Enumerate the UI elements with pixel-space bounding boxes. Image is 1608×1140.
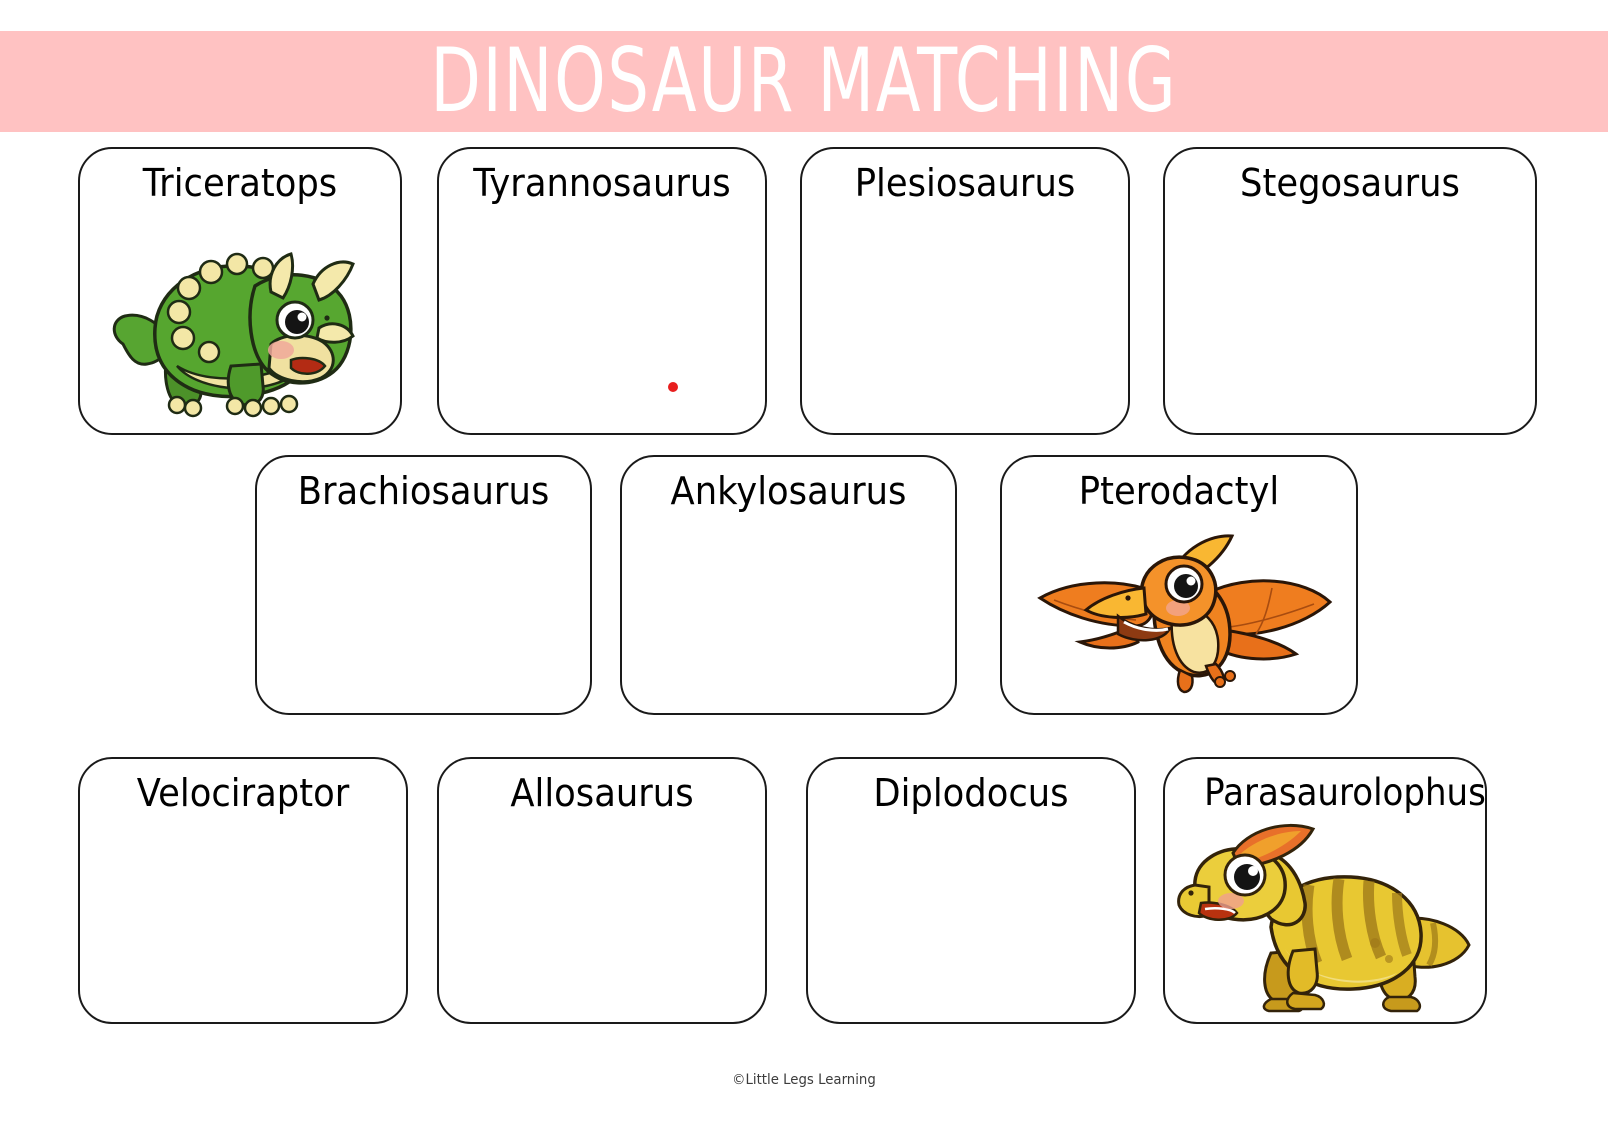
card-label: Stegosaurus <box>1178 157 1522 209</box>
card-brachiosaurus[interactable]: Brachiosaurus <box>255 455 592 715</box>
red-dot-marker <box>668 382 678 392</box>
footer-credit: ©Little Legs Learning <box>40 1072 1568 1088</box>
card-label: Triceratops <box>91 157 389 209</box>
page-title: DINOSAUR MATCHING <box>431 37 1178 126</box>
card-pterodactyl[interactable]: Pterodactyl <box>1000 455 1358 715</box>
header-banner: DINOSAUR MATCHING <box>0 31 1608 132</box>
pterodactyl-illustration <box>1002 515 1356 709</box>
card-triceratops[interactable]: Triceratops <box>78 147 402 435</box>
card-label: Plesiosaurus <box>813 157 1116 209</box>
parasaurolophus-illustration <box>1165 817 1485 1018</box>
card-label: Allosaurus <box>450 767 753 819</box>
triceratops-illustration <box>80 207 400 429</box>
card-label: Tyrannosaurus <box>450 157 753 209</box>
card-allosaurus[interactable]: Allosaurus <box>437 757 767 1024</box>
card-diplodocus[interactable]: Diplodocus <box>806 757 1136 1024</box>
card-plesiosaurus[interactable]: Plesiosaurus <box>800 147 1130 435</box>
card-label: Parasaurolophus <box>1189 767 1487 819</box>
card-label: Pterodactyl <box>1014 465 1343 517</box>
card-label: Diplodocus <box>819 767 1122 819</box>
card-stegosaurus[interactable]: Stegosaurus <box>1163 147 1537 435</box>
card-label: Brachiosaurus <box>269 465 579 517</box>
card-tyrannosaurus[interactable]: Tyrannosaurus <box>437 147 767 435</box>
card-parasaurolophus[interactable]: Parasaurolophus <box>1163 757 1487 1024</box>
card-ankylosaurus[interactable]: Ankylosaurus <box>620 455 957 715</box>
card-label: Velociraptor <box>91 767 394 819</box>
card-label: Ankylosaurus <box>634 465 944 517</box>
card-velociraptor[interactable]: Velociraptor <box>78 757 408 1024</box>
